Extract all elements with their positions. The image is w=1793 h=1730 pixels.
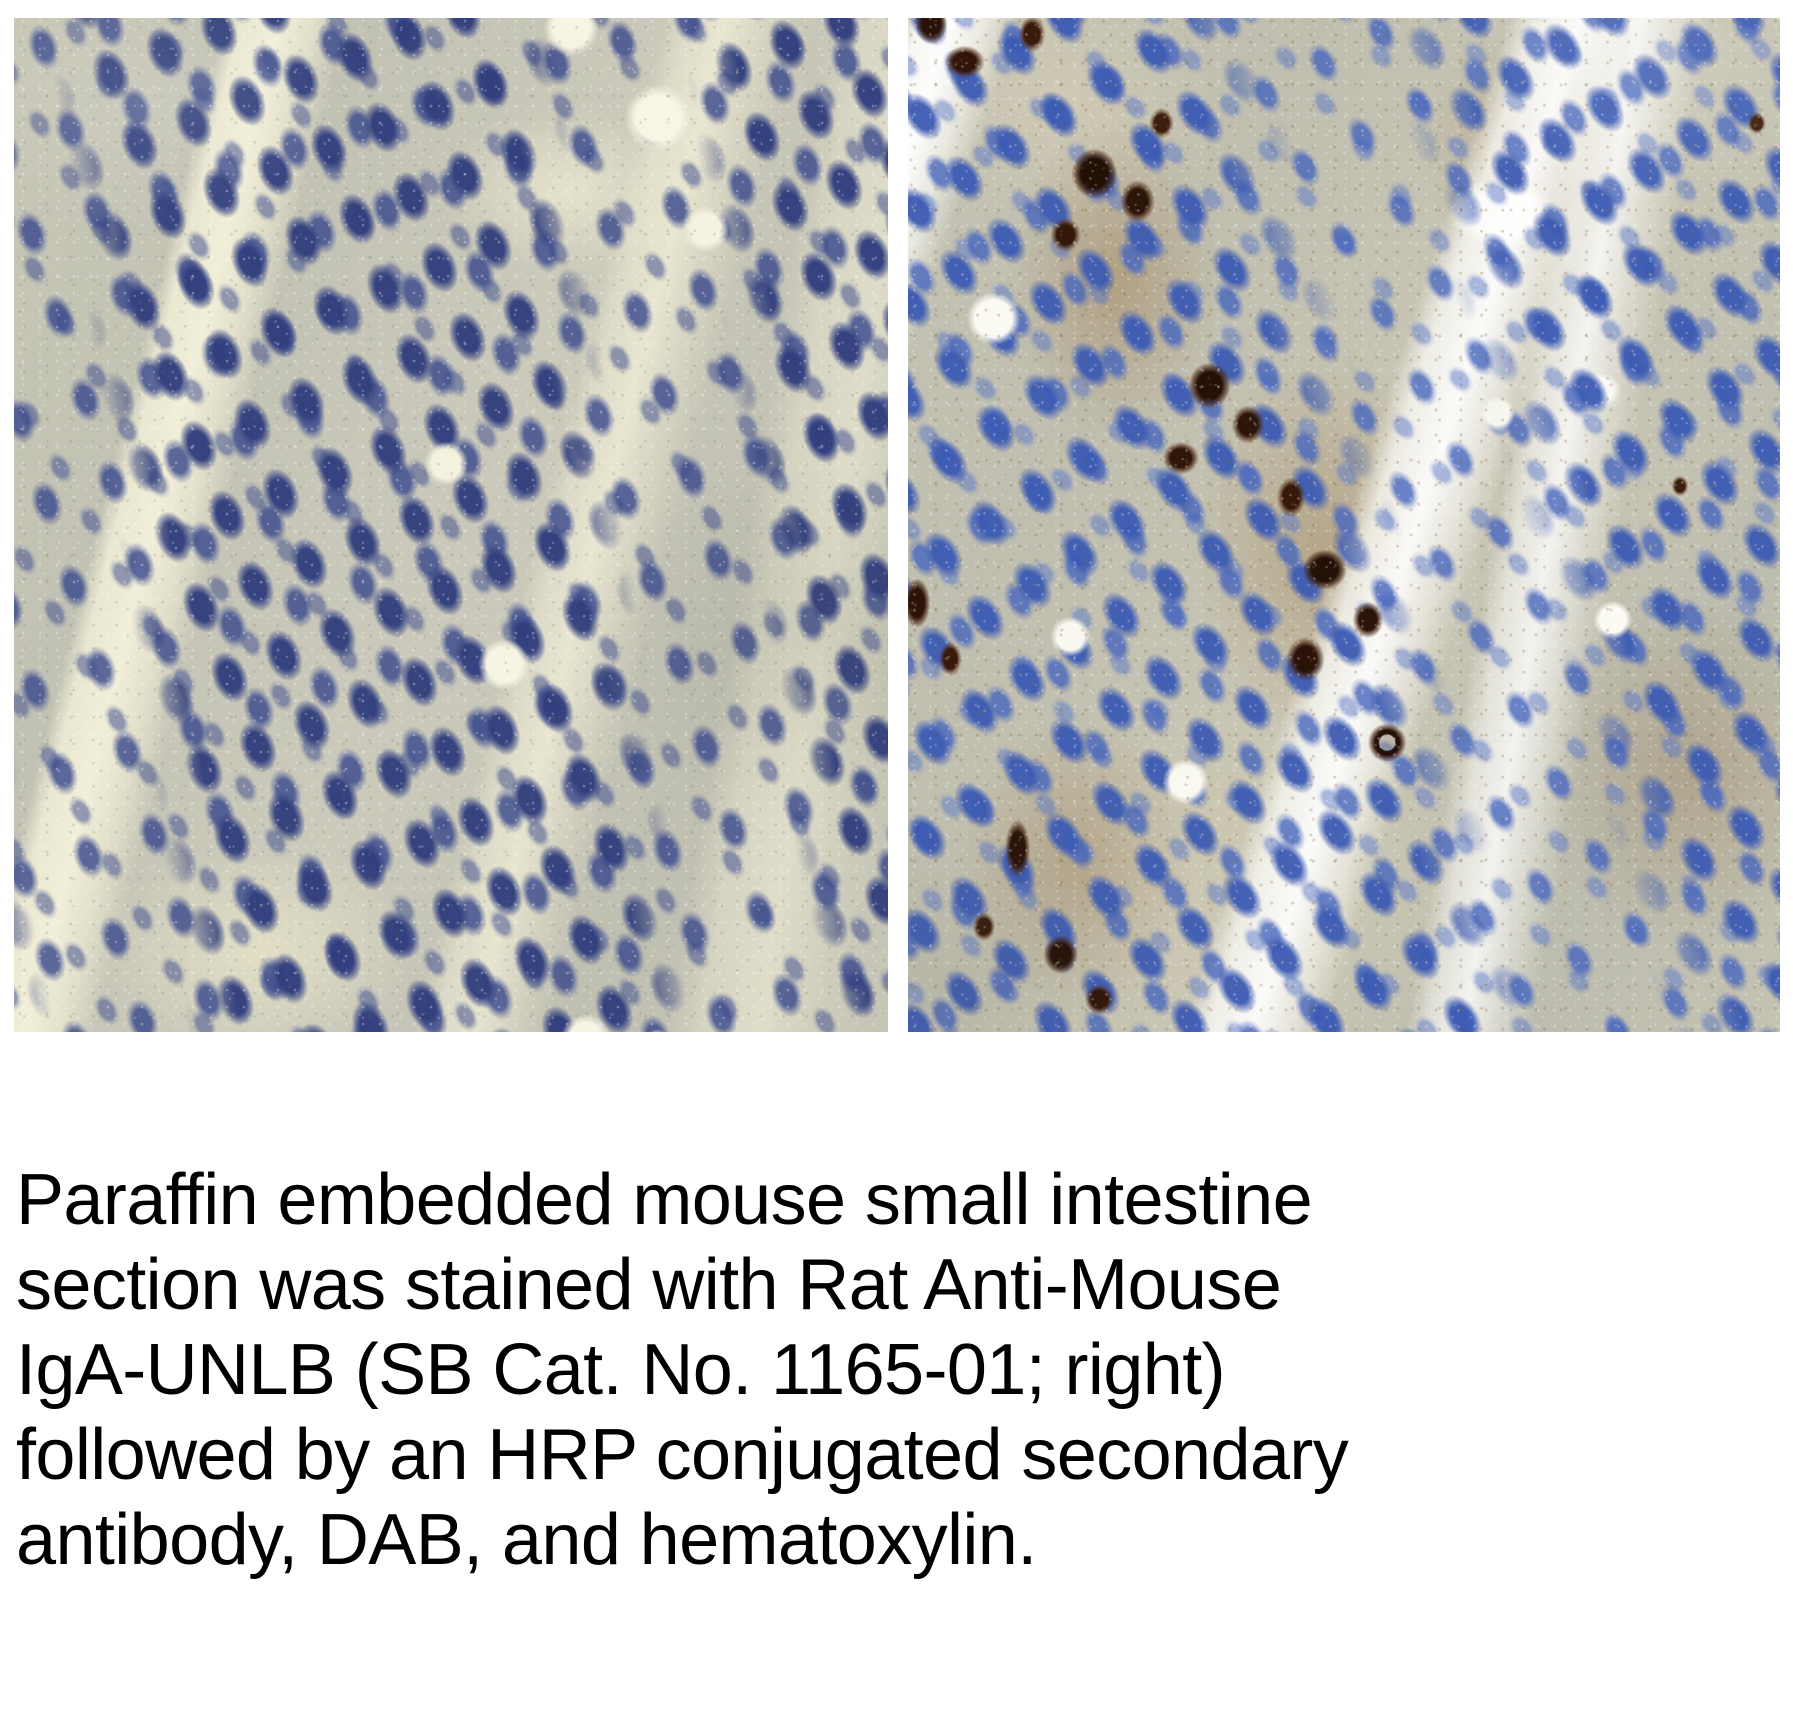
figure-root: Paraffin embedded mouse small intestine … [0, 0, 1793, 1730]
micrograph-panel-row [14, 18, 1780, 1032]
micrograph-panel-left [14, 18, 888, 1032]
micrograph-panel-right [908, 18, 1780, 1032]
illumination-gradient-left [14, 18, 888, 1032]
illumination-gradient-right [908, 18, 1780, 1032]
figure-caption: Paraffin embedded mouse small intestine … [16, 1158, 1416, 1583]
